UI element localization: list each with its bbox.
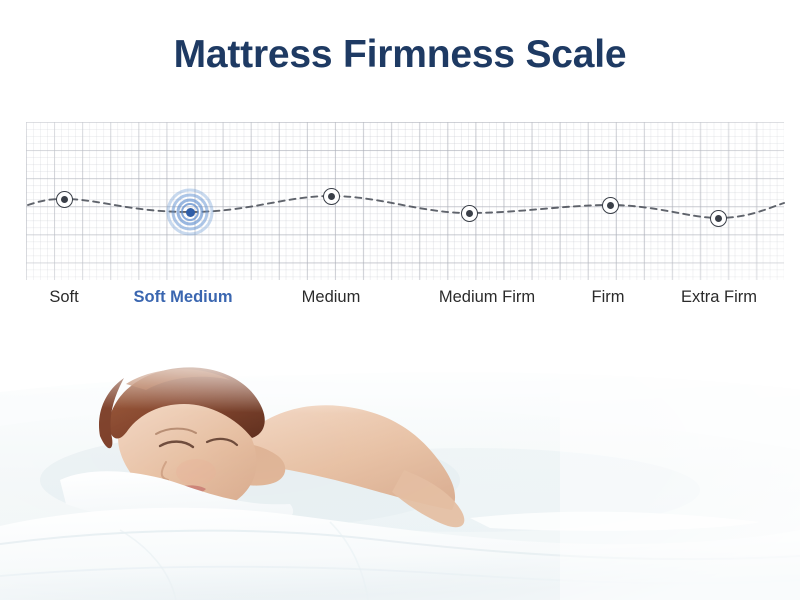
firmness-chart bbox=[0, 115, 800, 290]
firmness-label-row: Soft Soft Medium Medium Medium Firm Firm… bbox=[0, 288, 800, 314]
firmness-marker-soft[interactable] bbox=[56, 191, 73, 208]
firmness-marker-firm[interactable] bbox=[602, 197, 619, 214]
sleeping-woman-illustration bbox=[0, 330, 800, 600]
firmness-label-extra-firm[interactable]: Extra Firm bbox=[681, 288, 757, 307]
firmness-curve bbox=[0, 115, 800, 290]
firmness-marker-soft-medium-active[interactable] bbox=[166, 188, 214, 236]
firmness-label-medium[interactable]: Medium bbox=[302, 288, 361, 307]
firmness-label-medium-firm[interactable]: Medium Firm bbox=[439, 288, 535, 307]
firmness-label-firm[interactable]: Firm bbox=[592, 288, 625, 307]
firmness-marker-medium[interactable] bbox=[323, 188, 340, 205]
firmness-marker-extra-firm[interactable] bbox=[710, 210, 727, 227]
firmness-marker-medium-firm[interactable] bbox=[461, 205, 478, 222]
sleeping-woman-photo bbox=[0, 330, 800, 600]
page-title: Mattress Firmness Scale bbox=[0, 33, 800, 77]
active-center-dot bbox=[186, 208, 195, 217]
firmness-scale-page: Mattress Firmness Scale Soft Soft Medium… bbox=[0, 0, 800, 600]
firmness-label-soft-medium[interactable]: Soft Medium bbox=[134, 288, 233, 307]
firmness-label-soft[interactable]: Soft bbox=[49, 288, 78, 307]
